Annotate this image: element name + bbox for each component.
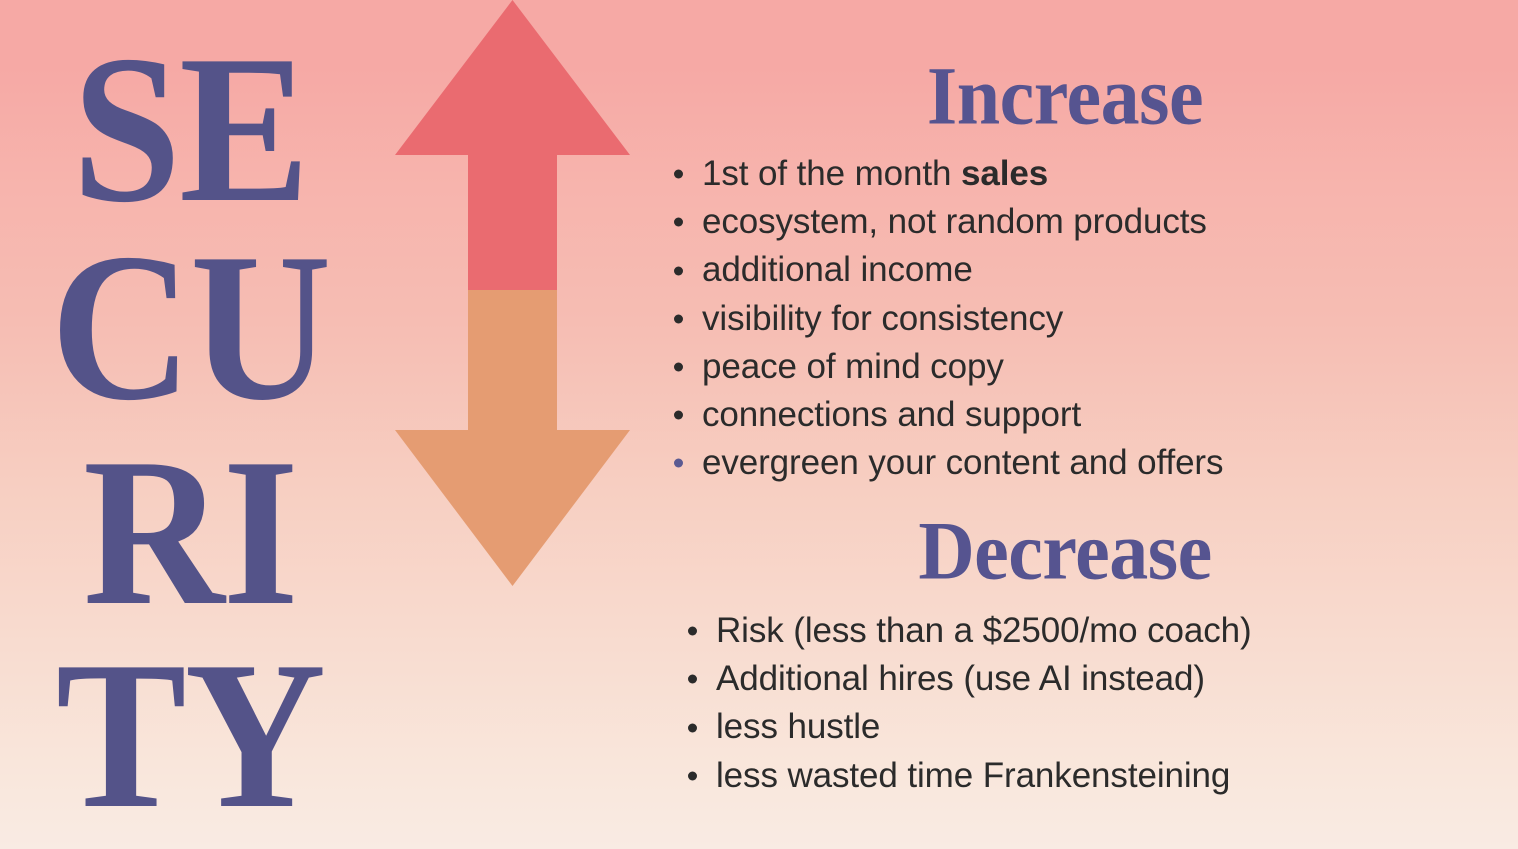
security-line-2: CU: [0, 222, 380, 434]
arrow-down-icon: [395, 290, 630, 586]
decrease-heading: Decrease: [640, 510, 1490, 593]
bullet-dot-icon: [674, 314, 683, 323]
bullet-text-plain: peace of mind copy: [702, 347, 1004, 386]
bullet-text-plain: Additional hires (use AI instead): [716, 659, 1205, 698]
increase-heading: Increase: [640, 55, 1490, 138]
content-column: Increase 1st of the month sales ecosyste…: [640, 0, 1518, 849]
increase-bullet-list: 1st of the month sales ecosystem, not ra…: [672, 150, 1223, 487]
bullet-text-plain: less wasted time Frankensteining: [716, 756, 1230, 795]
bullet-dot-icon: [674, 411, 683, 420]
bullet-text-plain: less hustle: [716, 707, 880, 746]
bullet-text-plain: evergreen your content and offers: [702, 443, 1223, 482]
bullet-dot-icon: [688, 675, 697, 684]
bullet-text-plain: ecosystem, not random products: [702, 202, 1207, 241]
bullet-dot-icon: [688, 723, 697, 732]
list-item: connections and support: [672, 391, 1223, 439]
decrease-bullet-list: Risk (less than a $2500/mo coach) Additi…: [686, 607, 1252, 800]
list-item: less hustle: [686, 703, 1252, 751]
list-item: Additional hires (use AI instead): [686, 655, 1252, 703]
security-line-1: SE: [0, 24, 380, 236]
bullet-text-plain: connections and support: [702, 395, 1081, 434]
slide-canvas: SE CU RI TY Increase 1st of the month sa…: [0, 0, 1518, 849]
bullet-text-plain: additional income: [702, 250, 973, 289]
bullet-text-bold: sales: [961, 154, 1048, 193]
list-item: Risk (less than a $2500/mo coach): [686, 607, 1252, 655]
security-line-4: TY: [0, 630, 380, 842]
bullet-dot-icon: [674, 170, 683, 179]
arrow-up-icon: [395, 0, 630, 290]
bullet-dot-icon: [674, 218, 683, 227]
security-wordmark: SE CU RI TY: [0, 0, 380, 849]
list-item: peace of mind copy: [672, 343, 1223, 391]
arrow-column: [395, 0, 640, 849]
list-item: evergreen your content and offers: [672, 439, 1223, 487]
security-line-3: RI: [0, 427, 380, 639]
bullet-dot-icon: [674, 266, 683, 275]
bullet-dot-icon: [688, 627, 697, 636]
bullet-dot-icon: [674, 362, 683, 371]
bullet-dot-icon-accent: [674, 459, 683, 468]
bullet-dot-icon: [688, 771, 697, 780]
list-item: less wasted time Frankensteining: [686, 752, 1252, 800]
bullet-text-plain: Risk (less than a $2500/mo coach): [716, 611, 1252, 650]
list-item: ecosystem, not random products: [672, 198, 1223, 246]
bullet-text-plain: visibility for consistency: [702, 299, 1063, 338]
bullet-text-plain: 1st of the month: [702, 154, 961, 193]
list-item: 1st of the month sales: [672, 150, 1223, 198]
list-item: visibility for consistency: [672, 295, 1223, 343]
list-item: additional income: [672, 246, 1223, 294]
